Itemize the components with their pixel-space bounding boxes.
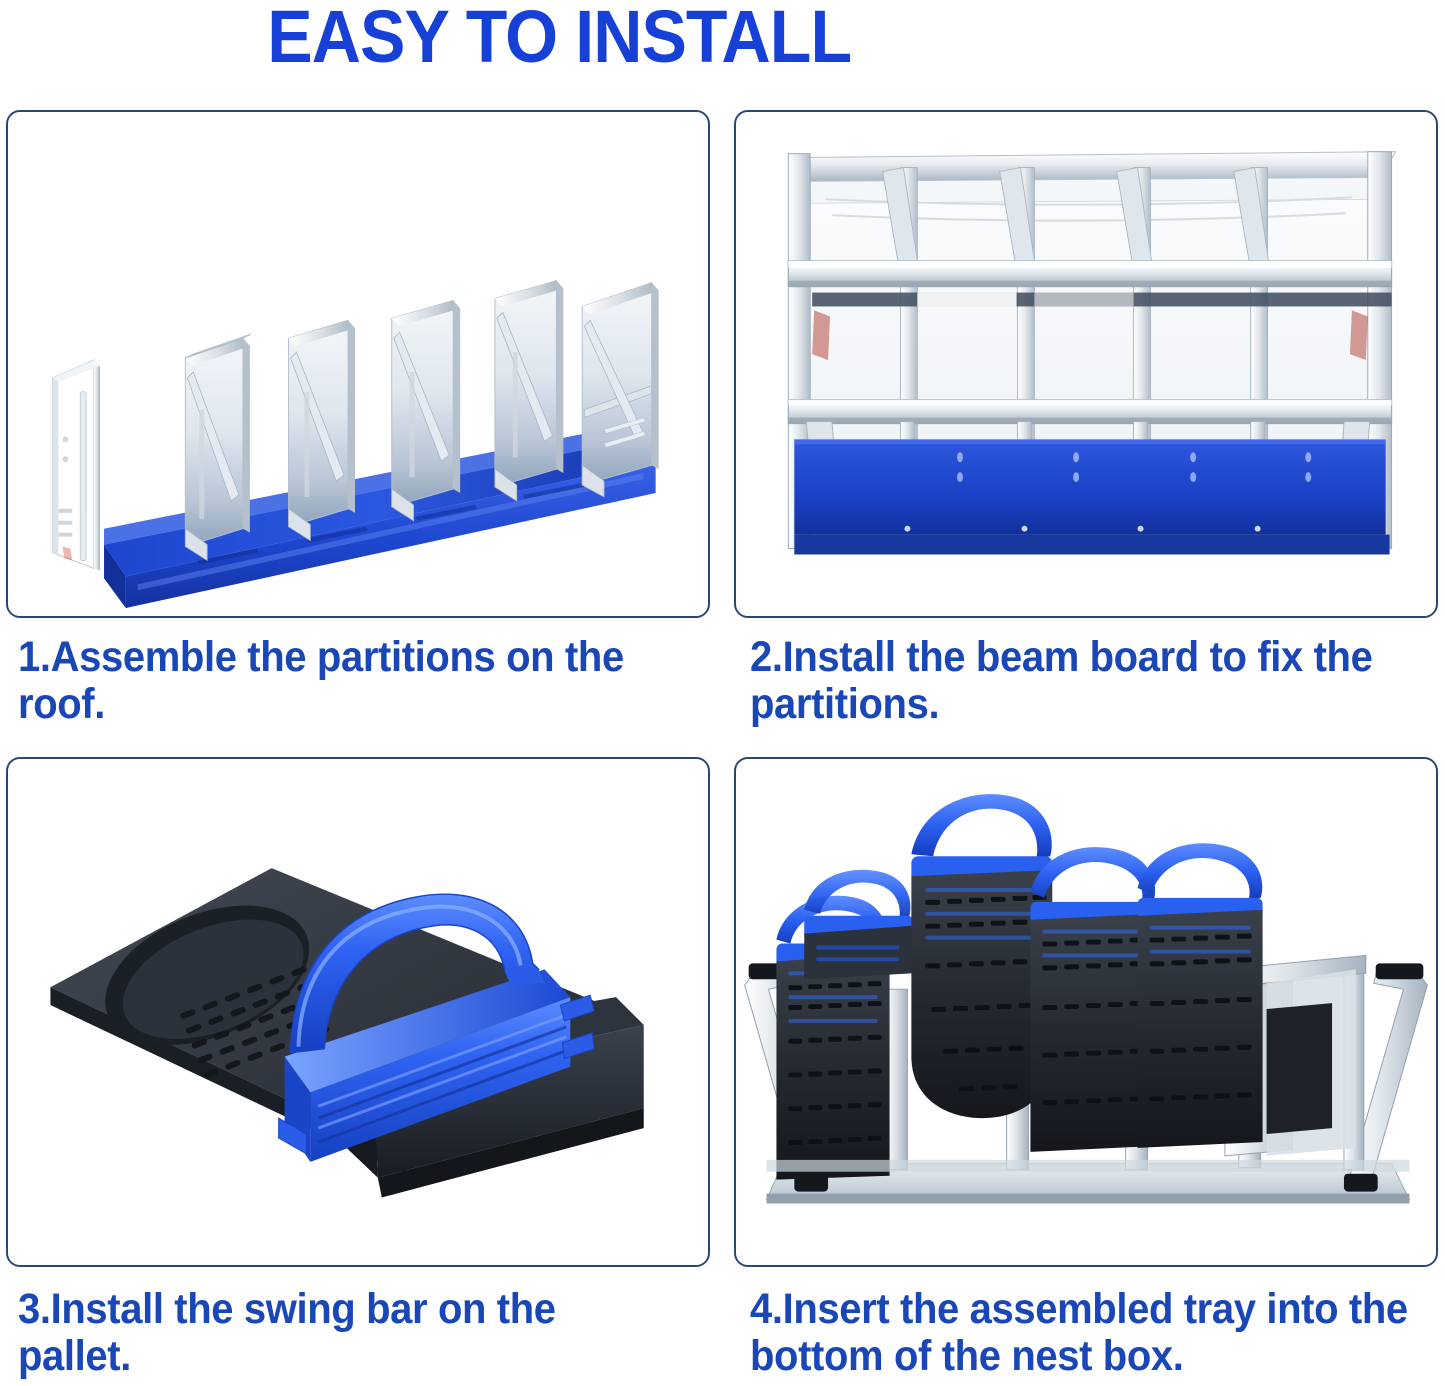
step-4-image-panel (734, 757, 1438, 1267)
tray-into-nest-box-photo (736, 759, 1436, 1265)
step-1-caption: 1.Assemble the partitions on the roof. (18, 634, 669, 728)
partition-panel (495, 281, 563, 501)
beam-board (788, 261, 1391, 287)
partition-panel (289, 320, 355, 540)
step-4-caption: 4.Insert the assembled tray into the bot… (750, 1286, 1410, 1380)
blue-base-tray (794, 439, 1389, 554)
beam-board-frame-photo (736, 112, 1436, 616)
partitions-on-roof-photo (8, 112, 708, 616)
partition-panel (392, 301, 460, 521)
infographic-page: EASY TO INSTALL (0, 0, 1445, 1386)
step-3-caption: 3.Install the swing bar on the pallet. (18, 1286, 669, 1380)
partition-panel (52, 360, 100, 570)
step-2-image-panel (734, 110, 1438, 618)
beam-board (788, 400, 1391, 424)
step-1-image-panel (6, 110, 710, 618)
partition-panel (582, 283, 658, 497)
partition-panel (185, 338, 249, 560)
step-3-image-panel (6, 757, 710, 1267)
step-2-caption: 2.Install the beam board to fix the part… (750, 634, 1401, 728)
page-title: EASY TO INSTALL (58, 0, 1387, 80)
swing-bar-pallet-photo (8, 759, 708, 1265)
